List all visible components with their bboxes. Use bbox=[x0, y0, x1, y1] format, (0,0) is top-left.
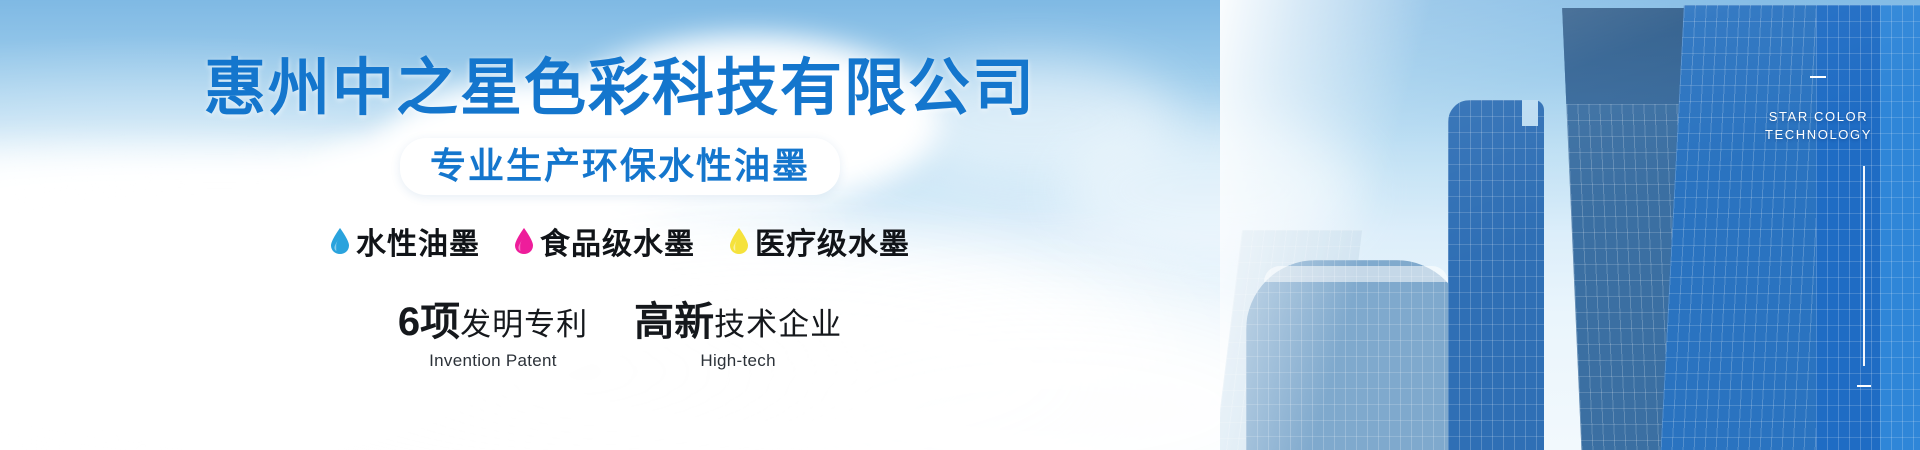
credential-strong: 高新 bbox=[634, 289, 714, 347]
tagline-badge: 专业生产环保水性油墨 bbox=[400, 138, 840, 195]
company-headline: 惠州中之星色彩科技有限公司 bbox=[204, 58, 1036, 120]
building-center-tower bbox=[1448, 100, 1544, 450]
water-drop-icon bbox=[514, 227, 534, 255]
product-label: 医疗级水墨 bbox=[755, 219, 910, 263]
credential-normal: 技术企业 bbox=[714, 299, 842, 344]
building-right-b bbox=[1880, 5, 1920, 450]
water-drop-icon bbox=[729, 227, 749, 255]
product-list: 水性油墨 食品级水墨 医疗级水墨 bbox=[330, 219, 910, 263]
credential-normal: 发明专利 bbox=[460, 299, 588, 344]
product-item: 食品级水墨 bbox=[514, 219, 695, 263]
credential-item-hightech: 高新 技术企业 High-tech bbox=[634, 289, 842, 371]
product-item: 水性油墨 bbox=[330, 219, 480, 263]
cityscape-photo bbox=[1220, 0, 1920, 450]
product-label: 食品级水墨 bbox=[540, 219, 695, 263]
overlay-line-2: TECHNOLOGY bbox=[1765, 126, 1872, 144]
building-brand-overlay: STAR COLOR TECHNOLOGY bbox=[1765, 76, 1872, 143]
credential-english: High-tech bbox=[634, 351, 842, 371]
promo-banner: Star Color STAR COLOR TECHNOLOGY 惠州中之星色彩… bbox=[0, 0, 1920, 450]
banner-content: 惠州中之星色彩科技有限公司 专业生产环保水性油墨 水性油墨 bbox=[0, 0, 1240, 450]
credential-list: 6项 发明专利 Invention Patent 高新 技术企业 High-te… bbox=[398, 289, 842, 371]
overlay-vertical-rule bbox=[1863, 166, 1865, 366]
overlay-rule-top bbox=[1810, 76, 1826, 78]
credential-strong: 6项 bbox=[398, 289, 460, 347]
credential-item-patent: 6项 发明专利 Invention Patent bbox=[398, 289, 588, 371]
overlay-rule-bottom bbox=[1857, 385, 1871, 387]
building-crown bbox=[1264, 266, 1449, 282]
credential-headline: 6项 发明专利 bbox=[398, 289, 588, 347]
water-drop-icon bbox=[330, 227, 350, 255]
product-item: 医疗级水墨 bbox=[729, 219, 910, 263]
credential-headline: 高新 技术企业 bbox=[634, 289, 842, 347]
credential-english: Invention Patent bbox=[398, 351, 588, 371]
building-rounded-left bbox=[1246, 260, 1466, 450]
overlay-line-1: STAR COLOR bbox=[1765, 108, 1872, 126]
product-label: 水性油墨 bbox=[356, 219, 480, 263]
building-upper-facade bbox=[1562, 8, 1698, 104]
building-notch bbox=[1522, 100, 1538, 126]
